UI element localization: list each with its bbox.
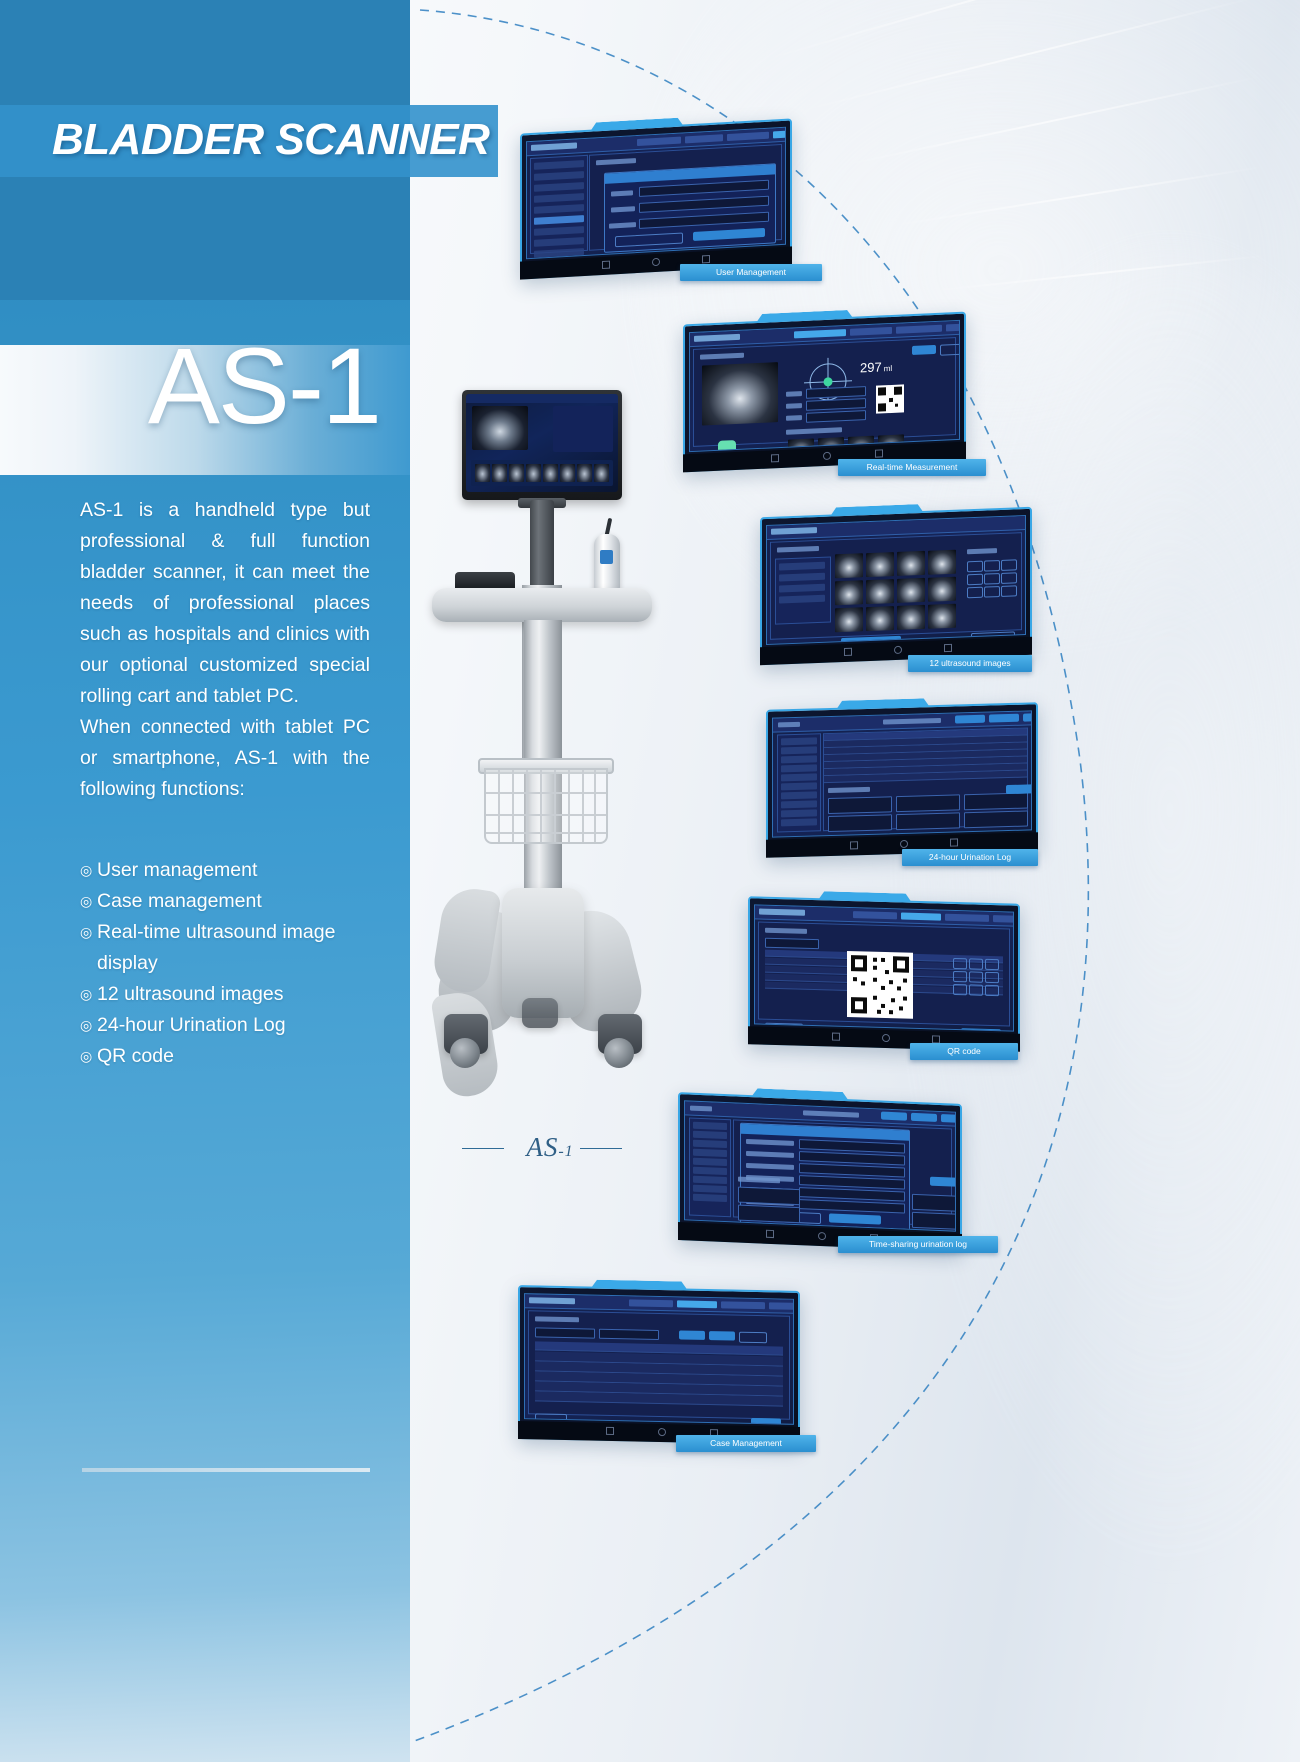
tool-button[interactable] xyxy=(1001,559,1017,571)
bullet-icon: ◎ xyxy=(80,917,92,948)
description-paragraph-2: When connected with tablet PC or smartph… xyxy=(80,712,370,805)
record-field[interactable] xyxy=(964,810,1028,828)
date-row[interactable] xyxy=(693,1194,727,1202)
app-logo xyxy=(694,334,740,342)
ultrasound-image[interactable] xyxy=(866,552,894,577)
patient-id-input[interactable] xyxy=(806,386,866,399)
cart-base xyxy=(438,888,648,1078)
date-row[interactable] xyxy=(693,1167,727,1175)
signature-text: AS xyxy=(526,1132,558,1162)
record-field[interactable] xyxy=(828,796,892,814)
tool-button[interactable] xyxy=(967,574,983,586)
basket-wire xyxy=(486,814,606,816)
home-icon[interactable] xyxy=(818,1232,826,1240)
back-icon[interactable] xyxy=(844,648,852,656)
tool-button[interactable] xyxy=(984,560,1000,572)
date-row[interactable] xyxy=(693,1140,727,1148)
monitor-thumbnail-strip xyxy=(471,460,613,486)
cart-basket xyxy=(478,758,610,846)
tab-case[interactable] xyxy=(677,1300,717,1308)
bullet-icon: ◎ xyxy=(80,1041,92,1072)
tool-button[interactable] xyxy=(969,958,983,969)
search-button[interactable] xyxy=(679,1330,705,1340)
volume-value: 297 xyxy=(860,359,882,375)
ultrasound-image[interactable] xyxy=(928,577,956,602)
sidebar-item-user-management[interactable] xyxy=(534,215,584,225)
tablet-screen xyxy=(754,904,1014,1031)
tool-button[interactable] xyxy=(967,587,983,599)
screenshot-real-time-measurement[interactable]: 297ml xyxy=(683,312,966,473)
monitor-right-panel xyxy=(553,406,613,452)
content-area xyxy=(589,144,782,251)
cart-tray xyxy=(432,588,652,622)
list-item: ◎12 ultrasound images xyxy=(80,979,400,1010)
back-icon[interactable] xyxy=(850,841,858,849)
password-input[interactable] xyxy=(639,196,769,213)
tab-realtime[interactable] xyxy=(853,911,897,919)
sidebar-item[interactable] xyxy=(534,160,584,170)
tab-settings[interactable] xyxy=(993,915,1014,923)
tool-button[interactable] xyxy=(969,971,983,982)
tool-button[interactable] xyxy=(967,561,983,573)
screenshot-24-hour-urination-log[interactable] xyxy=(766,702,1038,858)
save-button[interactable] xyxy=(912,345,936,355)
screenshot-time-sharing-urination-log[interactable] xyxy=(678,1092,962,1252)
qr-code-thumb xyxy=(876,384,904,413)
thumbnail xyxy=(594,464,609,482)
date-row[interactable] xyxy=(781,818,817,826)
return-button[interactable] xyxy=(778,722,800,728)
list-item: ◎Case management xyxy=(80,886,400,917)
home-icon[interactable] xyxy=(823,452,831,460)
panel-bottom-rule xyxy=(82,1468,370,1472)
tool-button[interactable] xyxy=(985,985,999,996)
patient-age-input[interactable] xyxy=(806,410,866,423)
section-title-urination-record xyxy=(828,787,870,793)
sidebar-item[interactable] xyxy=(534,171,584,181)
tab-urination[interactable] xyxy=(721,1301,765,1309)
recents-icon[interactable] xyxy=(944,644,952,652)
date-row[interactable] xyxy=(693,1149,727,1157)
field-label xyxy=(786,403,802,409)
tab-case[interactable] xyxy=(901,912,941,920)
filter-input[interactable] xyxy=(599,1329,659,1340)
tab-settings[interactable] xyxy=(769,1302,794,1310)
recents-icon[interactable] xyxy=(875,449,883,457)
save-button[interactable] xyxy=(1006,784,1032,794)
patient-name-input[interactable] xyxy=(806,398,866,411)
tablet-screen: 297ml xyxy=(689,320,960,452)
tab-urination[interactable] xyxy=(727,132,769,141)
date-row[interactable] xyxy=(781,764,817,772)
caption-real-time-measurement: Real-time Measurement xyxy=(838,459,986,476)
list-item: ◎Real-time ultrasound image display xyxy=(80,917,400,979)
back-icon[interactable] xyxy=(606,1427,614,1435)
action-button[interactable] xyxy=(989,714,1019,723)
date-row[interactable] xyxy=(781,755,817,763)
ultrasound-image[interactable] xyxy=(897,551,925,576)
content-area xyxy=(758,921,1010,1026)
print-button[interactable] xyxy=(940,344,960,356)
caption-case-management: Case Management xyxy=(676,1435,816,1452)
basket-body xyxy=(484,768,608,844)
ok-button[interactable] xyxy=(693,228,765,241)
section-title xyxy=(596,158,636,165)
tab-case[interactable] xyxy=(850,327,892,336)
date-row[interactable] xyxy=(781,809,817,817)
sidebar-item[interactable] xyxy=(534,182,584,192)
tool-button[interactable] xyxy=(984,586,1000,598)
date-row[interactable] xyxy=(693,1158,727,1166)
back-icon[interactable] xyxy=(771,454,779,462)
field-label-repeat-password xyxy=(609,222,636,229)
app-logo xyxy=(529,1297,575,1304)
app-logo xyxy=(759,909,805,916)
monitor-topbar xyxy=(466,394,618,403)
date-row[interactable] xyxy=(693,1122,727,1130)
user-management-dialog xyxy=(604,163,776,253)
ultrasound-image[interactable] xyxy=(835,580,863,605)
ultrasound-image[interactable] xyxy=(866,606,894,631)
basket-wire xyxy=(486,832,606,834)
signature-suffix: -1 xyxy=(558,1143,573,1160)
tool-button[interactable] xyxy=(1001,585,1017,597)
date-row[interactable] xyxy=(781,791,817,799)
feature-label: 12 ultrasound images xyxy=(97,983,283,1005)
tab-settings[interactable] xyxy=(773,129,786,138)
date-row[interactable] xyxy=(781,746,817,754)
ultrasound-image[interactable] xyxy=(835,553,863,578)
save-button[interactable] xyxy=(930,1177,956,1187)
search-input[interactable] xyxy=(765,938,819,950)
sidebar-item[interactable] xyxy=(534,248,584,258)
feature-label: QR code xyxy=(97,1045,174,1067)
action-button[interactable] xyxy=(941,1114,956,1123)
date-list xyxy=(689,1118,731,1218)
tool-button[interactable] xyxy=(985,972,999,983)
home-icon[interactable] xyxy=(894,646,902,654)
record-field[interactable] xyxy=(828,814,892,832)
product-description: AS-1 is a handheld type but professional… xyxy=(80,495,370,805)
list-item: ◎QR code xyxy=(80,1041,400,1072)
volume-unit: ml xyxy=(884,364,892,373)
thumbnail xyxy=(526,464,541,482)
tool-button[interactable] xyxy=(953,971,967,982)
field-label xyxy=(746,1139,794,1146)
reset-button[interactable] xyxy=(709,1331,735,1341)
date-row[interactable] xyxy=(781,773,817,781)
record-field[interactable] xyxy=(738,1187,800,1206)
field-label-account xyxy=(611,190,633,196)
thumbnail xyxy=(492,464,507,482)
tablet-screen xyxy=(766,515,1026,645)
record-field[interactable] xyxy=(964,792,1028,810)
date-row[interactable] xyxy=(693,1176,727,1184)
tab-realtime[interactable] xyxy=(629,1299,673,1307)
panel-title-realtime xyxy=(700,353,744,360)
tablet-screen xyxy=(684,1100,956,1231)
tablet-screen xyxy=(524,1293,794,1425)
thumbnail xyxy=(475,464,490,482)
pagination-next[interactable] xyxy=(751,1418,781,1425)
search-input[interactable] xyxy=(535,1327,595,1338)
record-field[interactable] xyxy=(912,1194,956,1212)
description-paragraph-1: AS-1 is a handheld type but professional… xyxy=(80,495,370,712)
panel-title-case-management xyxy=(765,928,807,934)
back-icon[interactable] xyxy=(832,1033,840,1041)
date-row[interactable] xyxy=(781,782,817,790)
caster-wheel xyxy=(450,1038,480,1068)
product-signature: AS-1 xyxy=(460,1132,640,1163)
tab-settings[interactable] xyxy=(946,323,960,331)
product-photo-cart xyxy=(410,380,690,1180)
qr-code-image xyxy=(847,951,913,1019)
monitor-neck xyxy=(530,500,554,592)
field-label xyxy=(746,1151,794,1158)
page-title-urination-log xyxy=(803,1110,859,1117)
probe-handle xyxy=(594,534,620,596)
caster-wheel xyxy=(604,1038,634,1068)
tab-realtime[interactable] xyxy=(794,329,846,338)
field-label xyxy=(786,415,802,421)
tab-urination[interactable] xyxy=(896,325,942,334)
thumbnail xyxy=(577,464,592,482)
screenshot-user-management[interactable] xyxy=(520,118,792,279)
sidebar-item[interactable] xyxy=(534,193,584,203)
screenshot-12-ultrasound-images[interactable] xyxy=(760,507,1032,665)
field-label-password xyxy=(611,206,635,212)
return-button[interactable] xyxy=(690,1106,712,1112)
tab-urination[interactable] xyxy=(945,914,989,922)
field-label xyxy=(746,1163,794,1170)
brochure-page: BLADDER SCANNER AS-1 AS-1 is a handheld … xyxy=(0,0,1300,1762)
bullet-icon: ◎ xyxy=(80,979,92,1010)
tablet-screen xyxy=(772,710,1032,837)
sidebar-item[interactable] xyxy=(534,204,584,214)
tool-button[interactable] xyxy=(1001,572,1017,584)
content-area xyxy=(528,1310,790,1419)
list-item: ◎24-hour Urination Log xyxy=(80,1010,400,1041)
ultrasound-image[interactable] xyxy=(866,579,894,604)
caption-qr-code: QR code xyxy=(910,1043,1018,1060)
case-list-row[interactable] xyxy=(779,573,825,582)
case-list xyxy=(775,556,831,624)
app-logo xyxy=(531,142,577,151)
action-button[interactable] xyxy=(911,1113,937,1122)
home-icon[interactable] xyxy=(882,1034,890,1042)
recents-icon[interactable] xyxy=(702,255,710,263)
basket-wire xyxy=(486,792,606,794)
probe-button xyxy=(600,550,613,564)
export-button[interactable] xyxy=(739,1332,767,1344)
record-field[interactable] xyxy=(896,812,960,830)
ultrasound-image[interactable] xyxy=(835,607,863,632)
tab-case[interactable] xyxy=(685,134,723,143)
feature-label: 24-hour Urination Log xyxy=(97,1014,286,1036)
case-list-row[interactable] xyxy=(779,584,825,593)
dialog-title-bar xyxy=(741,1124,909,1141)
screenshot-case-management[interactable] xyxy=(518,1285,800,1445)
feature-label: Real-time ultrasound image display xyxy=(97,921,335,974)
caption-12-ultrasound-images: 12 ultrasound images xyxy=(908,655,1032,672)
thumbnail xyxy=(543,464,558,482)
bullet-icon: ◎ xyxy=(80,1010,92,1041)
sidebar xyxy=(530,155,588,254)
content-area xyxy=(733,1119,952,1226)
action-button[interactable] xyxy=(955,715,985,724)
date-row[interactable] xyxy=(781,800,817,808)
panel-title-case-management xyxy=(535,1316,579,1322)
recents-icon[interactable] xyxy=(950,838,958,846)
case-list-row[interactable] xyxy=(779,595,825,604)
account-input[interactable] xyxy=(639,180,769,197)
ultrasound-image-main xyxy=(702,362,778,425)
content-area xyxy=(770,532,1022,640)
caption-24-hour-urination-log: 24-hour Urination Log xyxy=(902,849,1038,866)
tool-button[interactable] xyxy=(985,959,999,970)
repeat-password-input[interactable] xyxy=(639,212,769,229)
feature-label: Case management xyxy=(97,890,262,912)
bullet-icon: ◎ xyxy=(80,886,92,917)
record-field[interactable] xyxy=(912,1212,956,1230)
thumbnail xyxy=(560,464,575,482)
action-button[interactable] xyxy=(881,1112,907,1121)
tools-title xyxy=(967,548,997,554)
caster xyxy=(522,998,558,1028)
model-name: AS-1 xyxy=(0,332,380,440)
tool-button[interactable] xyxy=(953,958,967,969)
action-button[interactable] xyxy=(1023,713,1032,722)
cancel-button[interactable] xyxy=(615,232,683,247)
home-icon[interactable] xyxy=(658,1428,666,1436)
sidebar-item[interactable] xyxy=(534,226,584,236)
date-row[interactable] xyxy=(693,1131,727,1139)
record-field[interactable] xyxy=(738,1205,800,1224)
case-list-row[interactable] xyxy=(779,562,825,571)
tool-button[interactable] xyxy=(984,573,1000,585)
monitor-ultrasound-image xyxy=(472,406,528,450)
home-icon[interactable] xyxy=(900,840,908,848)
ultrasound-image[interactable] xyxy=(897,605,925,630)
home-icon[interactable] xyxy=(652,258,660,266)
date-list xyxy=(777,733,821,832)
sidebar-item[interactable] xyxy=(534,237,584,247)
date-row[interactable] xyxy=(693,1185,727,1193)
thumbnail xyxy=(509,464,524,482)
ultrasound-image[interactable] xyxy=(897,578,925,603)
bullet-icon: ◎ xyxy=(80,855,92,886)
volume-readout: 297ml xyxy=(860,359,892,375)
feature-label: User management xyxy=(97,859,257,881)
record-field[interactable] xyxy=(896,794,960,812)
screenshot-qr-code[interactable] xyxy=(748,896,1020,1052)
caption-time-sharing-urination-log: Time-sharing urination log xyxy=(838,1236,998,1253)
caption-user-management: User Management xyxy=(680,264,822,281)
ultrasound-image[interactable] xyxy=(928,604,956,629)
content-area: 297ml xyxy=(693,337,956,447)
page-title-urination-log xyxy=(883,718,941,725)
back-icon[interactable] xyxy=(602,261,610,269)
dialog-input[interactable] xyxy=(799,1199,905,1213)
monitor-screen xyxy=(466,394,618,492)
content-area xyxy=(823,727,1028,831)
panel-title-case-management xyxy=(777,546,819,553)
ultrasound-image[interactable] xyxy=(928,550,956,575)
tablet-screen xyxy=(526,127,786,260)
confirm-button[interactable] xyxy=(829,1213,881,1224)
page-title: BLADDER SCANNER xyxy=(52,115,512,165)
back-icon[interactable] xyxy=(766,1230,774,1238)
list-item: ◎User management xyxy=(80,855,400,886)
field-label xyxy=(786,391,802,397)
tool-button[interactable] xyxy=(969,984,983,995)
app-logo xyxy=(771,527,817,535)
date-row[interactable] xyxy=(781,737,817,745)
tab-realtime[interactable] xyxy=(637,137,681,146)
feature-list: ◎User management ◎Case management ◎Real-… xyxy=(80,855,400,1072)
panel-title-image-transmission xyxy=(786,427,842,435)
tool-button[interactable] xyxy=(953,984,967,995)
